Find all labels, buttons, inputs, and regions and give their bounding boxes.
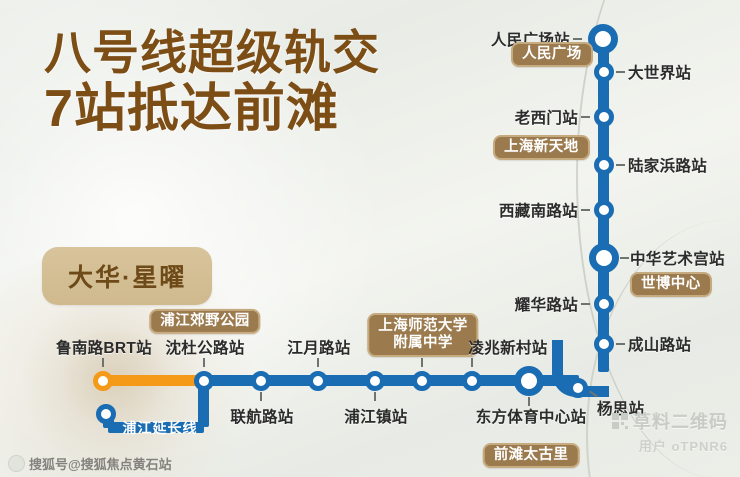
poi-badge-line-2: 附属中学 [378,335,467,352]
station-tick-lianhang-lu [260,392,262,401]
station-node-shendu-gonglu[interactable] [194,371,214,391]
station-tick-zhonghua-yishugong [620,257,629,259]
bottom-watermark: 搜狐号@搜狐焦点黄石站 [8,454,172,473]
station-tick-renmin-guangchang [573,38,582,40]
headline-block: 八号线超级轨交 7站抵达前滩 [44,28,380,137]
station-tick-jiangyue-lu [317,358,319,367]
station-node-lujiabang-lu[interactable] [594,155,614,175]
station-tick-yaohua-lu [581,303,590,305]
poi-badge-qiantan-taikooli: 前滩太古里 [483,443,580,468]
station-tick-lingzhao-xincun [471,358,473,367]
station-node-chengshan-lu[interactable] [594,334,614,354]
station-label-dashijie: 大世界站 [628,61,691,83]
station-tick-xizang-nanlu [581,209,590,211]
poi-badge-line-1: 上海师范大学 [378,318,467,335]
qr-watermark-text: 草料二维码 [633,408,728,434]
station-node-lianhang-lu[interactable] [251,371,271,391]
station-label-lingzhao-xincun: 凌兆新村站 [468,336,547,358]
qr-watermark-line-2: 用户 oTPNR6 [612,436,728,455]
station-label-lianhang-lu: 联航路站 [230,405,293,427]
station-node-lunan-lu-brt[interactable] [93,371,113,391]
station-node-dashijie[interactable] [594,62,614,82]
sohu-logo-icon [8,455,25,472]
station-tick-chengshan-lu [616,343,625,345]
station-label-laoximen: 老西门站 [515,106,578,128]
poi-badge-xintiandi: 上海新天地 [493,135,590,160]
station-label-lunan-lu-brt: 鲁南路BRT站 [56,336,152,358]
qr-watermark: 草料二维码 用户 oTPNR6 [612,408,728,455]
station-node-xizang-nanlu[interactable] [594,200,614,220]
station-node-zhonghua-yishugong[interactable] [589,243,619,273]
bottom-watermark-text: 搜狐号@搜狐焦点黄石站 [29,454,172,473]
station-tick-pujiang-zhen [374,392,376,401]
headline-line-2: 7站抵达前滩 [44,82,380,137]
station-label-dongfang-tiyu: 东方体育中心站 [476,405,587,427]
poi-badge-shibo-zhongxin: 世博中心 [630,272,712,297]
line-segment-brt-orange [100,375,208,386]
station-node-yaohua-lu[interactable] [594,294,614,314]
station-label-shendu-gonglu: 沈杜公路站 [165,336,244,358]
metro-line-poster: 八号线超级轨交 7站抵达前滩 大华·星曜 人民广场站 人民广场 大世界站 老西门… [0,0,740,477]
station-node-pujiang-zhen[interactable] [365,371,385,391]
station-tick-dashijie [616,71,625,73]
station-tick-laoximen [581,116,590,118]
brand-badge: 大华·星曜 [42,247,212,305]
station-label-chengshan-lu: 成山路站 [628,333,691,355]
station-node-luheng-lu[interactable] [412,371,432,391]
station-node-yangsi[interactable] [568,378,588,398]
station-label-zhonghua-yishugong: 中华艺术宫站 [630,247,725,269]
station-node-dongfang-tiyu[interactable] [514,366,544,396]
station-label-pujiang-zhen: 浦江镇站 [344,405,407,427]
station-label-yaohua-lu: 耀华路站 [515,293,578,315]
station-label-xizang-nanlu: 西藏南路站 [499,199,578,221]
station-node-pujiang-extension-terminus[interactable] [96,404,116,424]
headline-line-1: 八号线超级轨交 [44,28,380,78]
station-label-lujiabang-lu: 陆家浜路站 [628,154,707,176]
station-node-lingzhao-xincun[interactable] [462,371,482,391]
station-tick-lunan-lu-brt [102,358,104,367]
station-node-laoximen[interactable] [594,107,614,127]
qr-code-icon [612,413,628,429]
station-tick-shendu-gonglu [203,358,205,367]
poi-badge-pujiao-park: 浦江郊野公园 [149,309,260,334]
station-node-jiangyue-lu[interactable] [308,371,328,391]
line-label-pujiang-extension: 浦江延长线 [123,418,198,438]
station-label-jiangyue-lu: 江月路站 [287,336,350,358]
qr-watermark-line-1: 草料二维码 [612,408,728,434]
poi-badge-shishida-fuzhong: 上海师范大学 附属中学 [367,313,478,357]
station-tick-lujiabang-lu [616,164,625,166]
poi-badge-renmin-guangchang: 人民广场 [511,42,593,67]
station-tick-luheng-lu [421,358,423,367]
